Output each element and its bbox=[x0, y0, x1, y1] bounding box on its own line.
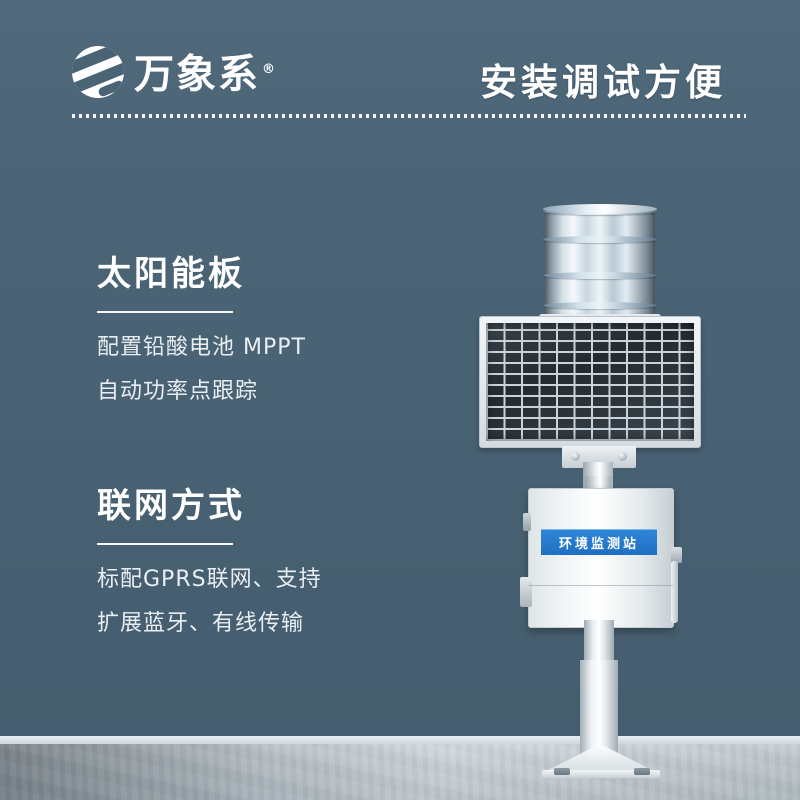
controller-cabinet: 环境监测站 bbox=[528, 488, 674, 628]
solar-panel bbox=[479, 316, 701, 448]
feature-title: 联网方式 bbox=[97, 484, 322, 528]
dotted-divider bbox=[72, 114, 746, 118]
cabinet-latch-upper bbox=[523, 513, 531, 531]
brand-swoosh-icon bbox=[72, 46, 124, 98]
cabinet-hinge bbox=[671, 561, 678, 623]
feature-underline bbox=[97, 311, 233, 313]
feature-block-network: 联网方式 标配GPRS联网、支持 扩展蓝牙、有线传输 bbox=[97, 484, 322, 653]
feature-line: 标配GPRS联网、支持 bbox=[97, 565, 322, 595]
mounting-pole-lower bbox=[580, 660, 618, 760]
page-title: 安装调试方便 bbox=[480, 52, 726, 106]
feature-title: 太阳能板 bbox=[97, 252, 306, 296]
feature-line: 扩展蓝牙、有线传输 bbox=[97, 609, 322, 639]
feature-line: 自动功率点跟踪 bbox=[97, 377, 306, 407]
solar-cells bbox=[486, 323, 694, 441]
product-photo: 环境监测站 bbox=[470, 190, 770, 790]
brand-name: 万象系® bbox=[134, 47, 277, 97]
registered-trademark-icon: ® bbox=[262, 62, 277, 77]
feature-underline bbox=[97, 543, 233, 545]
rain-gauge-sensor-icon bbox=[545, 202, 655, 322]
brand-name-text: 万象系 bbox=[134, 51, 260, 97]
cabinet-door-seam bbox=[529, 585, 673, 586]
feature-block-solar: 太阳能板 配置铅酸电池 MPPT 自动功率点跟踪 bbox=[97, 252, 306, 421]
anchor-bolt-right bbox=[634, 768, 650, 775]
brand-logo: 万象系® bbox=[72, 44, 277, 100]
cabinet-latch-lower bbox=[520, 577, 532, 607]
cabinet-label: 环境监测站 bbox=[541, 529, 657, 555]
anchor-bolt-left bbox=[554, 768, 570, 775]
feature-line: 配置铅酸电池 MPPT bbox=[97, 333, 306, 363]
promo-banner: 万象系® 安装调试方便 太阳能板 配置铅酸电池 MPPT 自动功率点跟踪 联网方… bbox=[0, 0, 800, 800]
